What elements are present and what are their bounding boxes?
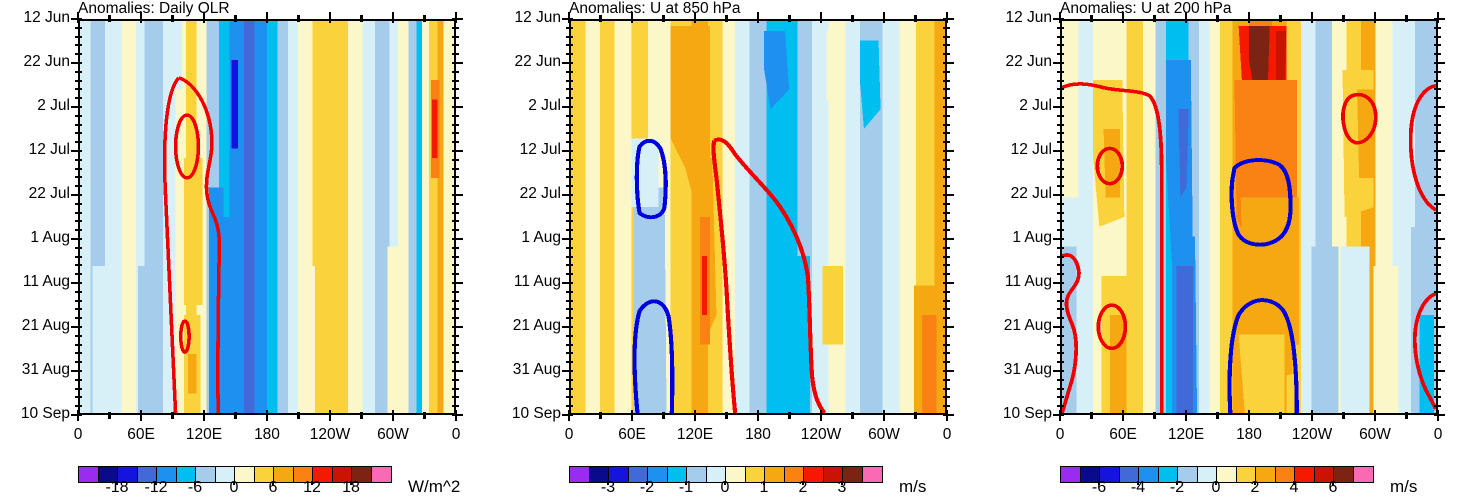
- y-axis-tick-minor-right: [943, 256, 950, 258]
- y-axis-tick-minor: [566, 388, 573, 390]
- y-axis-tick-minor-right: [1434, 132, 1441, 134]
- y-axis-tick-minor: [75, 247, 82, 249]
- y-axis-label: 11 Aug: [4, 275, 70, 289]
- y-axis-tick-minor-right: [943, 53, 950, 55]
- y-axis-label: 1 Aug: [495, 231, 561, 245]
- colorbar-tick-label: 6: [1311, 479, 1355, 497]
- y-axis-tick-minor-right: [452, 344, 459, 346]
- x-axis-label: 180: [237, 427, 297, 443]
- panel-u850: Anomalies: U at 850 hPa: [491, 0, 982, 497]
- y-axis-tick-minor: [1057, 44, 1064, 46]
- colorbar-tick-label: 1: [742, 479, 786, 497]
- y-axis-tick-minor: [566, 396, 573, 398]
- x-axis-label: 120E: [174, 427, 234, 443]
- y-axis-tick-minor: [566, 379, 573, 381]
- y-axis-tick-minor: [75, 203, 82, 205]
- y-axis-tick-minor-right: [452, 352, 459, 354]
- y-axis-tick-minor-right: [943, 361, 950, 363]
- x-axis-tick-minor: [234, 412, 236, 419]
- y-axis-tick-minor-right: [452, 27, 459, 29]
- y-axis-tick-minor-right: [452, 247, 459, 249]
- y-axis-tick-minor-right: [943, 352, 950, 354]
- y-axis-label: 11 Aug: [495, 275, 561, 289]
- y-axis-tick-minor: [566, 159, 573, 161]
- y-axis-tick-minor: [1057, 132, 1064, 134]
- panel-title-u850: Anomalies: U at 850 hPa: [569, 0, 740, 18]
- x-axis-tick-minor-top: [108, 15, 110, 22]
- colorbar-tick-label: -2: [625, 479, 669, 497]
- y-axis-tick-minor-right: [1434, 247, 1441, 249]
- y-axis-tick-major-right: [1434, 238, 1445, 241]
- y-axis-tick-major-right: [943, 194, 954, 197]
- y-axis-tick-minor: [566, 80, 573, 82]
- y-axis-tick-major: [1053, 282, 1064, 285]
- x-axis-tick-minor: [1279, 412, 1281, 419]
- y-axis-tick-minor: [75, 53, 82, 55]
- y-axis-tick-major: [562, 106, 573, 109]
- y-axis-tick-minor-right: [1434, 36, 1441, 38]
- y-axis-tick-minor: [566, 124, 573, 126]
- x-axis-tick-major: [568, 410, 571, 421]
- y-axis-label: 21 Aug: [4, 319, 70, 333]
- y-axis-tick-major-right: [1434, 370, 1445, 373]
- y-axis-tick-minor: [1057, 229, 1064, 231]
- y-axis-tick-minor-right: [943, 388, 950, 390]
- x-axis-tick-major: [140, 410, 143, 421]
- colorbar-tick-label: 0: [1194, 479, 1238, 497]
- y-axis-tick-major: [1053, 150, 1064, 153]
- y-axis-tick-minor-right: [1434, 273, 1441, 275]
- y-axis-tick-major: [71, 238, 82, 241]
- y-axis-label: 12 Jun: [495, 11, 561, 25]
- x-axis-tick-minor: [1405, 412, 1407, 419]
- x-axis-label: 120W: [300, 427, 360, 443]
- y-axis-tick-minor-right: [1434, 80, 1441, 82]
- x-axis-tick-major-top: [883, 12, 886, 23]
- x-axis-label: 60W: [1345, 427, 1405, 443]
- y-axis-tick-major-right: [943, 370, 954, 373]
- y-axis-tick-minor: [75, 388, 82, 390]
- y-axis-tick-major-right: [943, 414, 954, 417]
- y-axis-tick-minor: [75, 352, 82, 354]
- y-axis-tick-minor-right: [452, 220, 459, 222]
- y-axis-tick-minor-right: [452, 97, 459, 99]
- y-axis-tick-minor-right: [1434, 317, 1441, 319]
- y-axis-label: 12 Jul: [986, 143, 1052, 157]
- y-axis-tick-minor: [566, 256, 573, 258]
- y-axis-tick-minor-right: [1434, 352, 1441, 354]
- x-axis-tick-major: [77, 410, 80, 421]
- y-axis-label: 31 Aug: [986, 363, 1052, 377]
- y-axis-tick-minor-right: [943, 159, 950, 161]
- y-axis-tick-major-right: [452, 414, 463, 417]
- x-axis-tick-minor: [1153, 412, 1155, 419]
- x-axis-label: 60W: [363, 427, 423, 443]
- x-axis-tick-major-top: [1059, 12, 1062, 23]
- y-axis-tick-minor-right: [452, 203, 459, 205]
- panel-title-u200: Anomalies: U at 200 hPa: [1060, 0, 1231, 18]
- y-axis-tick-minor: [566, 53, 573, 55]
- y-axis-tick-minor: [1057, 405, 1064, 407]
- y-axis-tick-minor-right: [1434, 27, 1441, 29]
- y-axis-tick-minor: [566, 247, 573, 249]
- y-axis-tick-major-right: [1434, 150, 1445, 153]
- y-axis-tick-minor: [75, 97, 82, 99]
- y-axis-tick-minor-right: [943, 132, 950, 134]
- y-axis-tick-minor: [1057, 273, 1064, 275]
- y-axis-tick-minor-right: [1434, 159, 1441, 161]
- x-axis-tick-minor: [360, 412, 362, 419]
- y-axis-label: 22 Jun: [495, 55, 561, 69]
- x-axis-tick-minor-top: [297, 15, 299, 22]
- y-axis-tick-minor: [75, 141, 82, 143]
- y-axis-tick-minor-right: [1434, 396, 1441, 398]
- colorbar-tick-label: -12: [134, 479, 178, 497]
- y-axis-tick-minor-right: [452, 44, 459, 46]
- x-axis-tick-major-top: [757, 12, 760, 23]
- x-axis-tick-major: [946, 410, 949, 421]
- y-axis-tick-major-right: [452, 18, 463, 21]
- plot-area-u200: [1060, 19, 1438, 415]
- x-axis-tick-minor: [662, 412, 664, 419]
- x-axis-tick-minor: [1090, 412, 1092, 419]
- y-axis-label: 12 Jun: [4, 11, 70, 25]
- y-axis-tick-minor: [75, 44, 82, 46]
- x-axis-tick-major: [203, 410, 206, 421]
- x-axis-tick-major: [757, 410, 760, 421]
- x-axis-tick-major-top: [203, 12, 206, 23]
- y-axis-tick-major: [71, 282, 82, 285]
- y-axis-label: 10 Sep: [986, 407, 1052, 421]
- x-axis-tick-minor-top: [1342, 15, 1344, 22]
- x-axis-tick-minor: [423, 412, 425, 419]
- y-axis-tick-minor-right: [943, 141, 950, 143]
- x-axis-tick-minor: [108, 412, 110, 419]
- x-axis-tick-minor-top: [788, 15, 790, 22]
- y-axis-tick-minor-right: [943, 379, 950, 381]
- y-axis-label: 2 Jul: [986, 99, 1052, 113]
- y-axis-label: 10 Sep: [4, 407, 70, 421]
- y-axis-tick-minor: [75, 220, 82, 222]
- colorbar-tick-label: 0: [212, 479, 256, 497]
- plot-area-u850: [569, 19, 947, 415]
- x-axis-tick-minor-top: [725, 15, 727, 22]
- y-axis-tick-minor-right: [1434, 379, 1441, 381]
- y-axis-tick-minor-right: [1434, 361, 1441, 363]
- y-axis-tick-major-right: [943, 150, 954, 153]
- y-axis-tick-minor: [1057, 344, 1064, 346]
- y-axis-tick-minor-right: [452, 141, 459, 143]
- colorbar-swatch: [1354, 467, 1374, 482]
- y-axis-tick-minor-right: [943, 115, 950, 117]
- x-axis-tick-major-top: [820, 12, 823, 23]
- y-axis-tick-major-right: [452, 238, 463, 241]
- y-axis-tick-minor-right: [1434, 185, 1441, 187]
- colorbar-tick-label: -2: [1155, 479, 1199, 497]
- x-axis-label: 120E: [1156, 427, 1216, 443]
- y-axis-tick-minor: [1057, 159, 1064, 161]
- x-axis-tick-minor-top: [599, 15, 601, 22]
- colorbar-tick-label: -18: [95, 479, 139, 497]
- y-axis-tick-minor: [75, 124, 82, 126]
- y-axis-tick-minor: [566, 185, 573, 187]
- y-axis-tick-minor-right: [943, 300, 950, 302]
- y-axis-tick-minor: [566, 88, 573, 90]
- y-axis-tick-minor-right: [1434, 53, 1441, 55]
- y-axis-tick-minor-right: [943, 317, 950, 319]
- y-axis-tick-minor: [75, 291, 82, 293]
- y-axis-tick-minor: [1057, 396, 1064, 398]
- x-axis-tick-major-top: [631, 12, 634, 23]
- x-axis-tick-major-top: [392, 12, 395, 23]
- x-axis-tick-minor-top: [360, 15, 362, 22]
- y-axis-tick-minor: [75, 212, 82, 214]
- y-axis-tick-minor: [566, 220, 573, 222]
- y-axis-tick-minor: [1057, 256, 1064, 258]
- y-axis-tick-minor-right: [452, 291, 459, 293]
- y-axis-tick-minor: [566, 115, 573, 117]
- x-axis-tick-minor-top: [1279, 15, 1281, 22]
- y-axis-tick-minor-right: [452, 53, 459, 55]
- y-axis-tick-major-right: [943, 106, 954, 109]
- y-axis-tick-minor-right: [1434, 344, 1441, 346]
- plot-area-olr: [78, 19, 456, 415]
- y-axis-label: 11 Aug: [986, 275, 1052, 289]
- colorbar-tick-label: -1: [664, 479, 708, 497]
- x-axis-tick-minor: [171, 412, 173, 419]
- y-axis-tick-minor: [566, 132, 573, 134]
- y-axis-tick-minor-right: [452, 300, 459, 302]
- x-axis-tick-major-top: [140, 12, 143, 23]
- x-axis-tick-minor-top: [1090, 15, 1092, 22]
- colorbar-tick-label: 2: [1233, 479, 1277, 497]
- y-axis-tick-minor-right: [452, 159, 459, 161]
- y-axis-label: 1 Aug: [4, 231, 70, 245]
- y-axis-tick-minor: [1057, 212, 1064, 214]
- y-axis-tick-minor-right: [452, 212, 459, 214]
- x-axis-tick-major: [266, 410, 269, 421]
- y-axis-tick-minor: [75, 185, 82, 187]
- x-axis-tick-major-top: [77, 12, 80, 23]
- y-axis-tick-minor-right: [452, 256, 459, 258]
- y-axis-tick-minor: [75, 335, 82, 337]
- y-axis-tick-minor-right: [943, 168, 950, 170]
- colorbar-unit-label: W/m^2: [408, 477, 460, 497]
- y-axis-tick-major: [71, 62, 82, 65]
- y-axis-tick-minor-right: [943, 396, 950, 398]
- y-axis-tick-minor: [75, 317, 82, 319]
- x-axis-tick-major: [1185, 410, 1188, 421]
- x-axis-label: 0: [48, 427, 108, 443]
- y-axis-tick-major: [1053, 370, 1064, 373]
- x-axis-tick-minor-top: [234, 15, 236, 22]
- x-axis-tick-major-top: [694, 12, 697, 23]
- x-axis-tick-major-top: [1122, 12, 1125, 23]
- y-axis-tick-minor: [566, 36, 573, 38]
- y-axis-tick-minor-right: [452, 361, 459, 363]
- x-axis-tick-minor-top: [851, 15, 853, 22]
- y-axis-tick-minor-right: [1434, 124, 1441, 126]
- y-axis-tick-major-right: [943, 62, 954, 65]
- x-axis-tick-major-top: [1248, 12, 1251, 23]
- y-axis-tick-minor-right: [943, 27, 950, 29]
- x-axis-label: 0: [1030, 427, 1090, 443]
- x-axis-tick-major-top: [1437, 12, 1440, 23]
- y-axis-tick-minor: [566, 176, 573, 178]
- colorbar-tick-label: -6: [173, 479, 217, 497]
- y-axis-tick-major: [71, 150, 82, 153]
- y-axis-tick-minor: [75, 396, 82, 398]
- x-axis-tick-minor-top: [423, 15, 425, 22]
- y-axis-tick-minor: [566, 44, 573, 46]
- y-axis-tick-minor-right: [1434, 308, 1441, 310]
- y-axis-tick-major-right: [1434, 414, 1445, 417]
- y-axis-tick-major-right: [1434, 18, 1445, 21]
- y-axis-tick-minor-right: [943, 80, 950, 82]
- y-axis-tick-minor: [566, 291, 573, 293]
- y-axis-tick-minor: [1057, 141, 1064, 143]
- y-axis-tick-minor: [1057, 388, 1064, 390]
- y-axis-tick-minor: [566, 361, 573, 363]
- y-axis-tick-minor-right: [452, 124, 459, 126]
- colorbar-swatch: [863, 467, 883, 482]
- y-axis-tick-minor-right: [943, 344, 950, 346]
- y-axis-tick-major-right: [452, 282, 463, 285]
- y-axis-label: 22 Jun: [4, 55, 70, 69]
- y-axis-tick-major: [1053, 62, 1064, 65]
- y-axis-tick-minor: [566, 344, 573, 346]
- colorbar-tick-label: -3: [586, 479, 630, 497]
- y-axis-tick-minor: [1057, 264, 1064, 266]
- colorbar-tick-label: -4: [1116, 479, 1160, 497]
- x-axis-tick-major: [1059, 410, 1062, 421]
- y-axis-tick-minor: [566, 97, 573, 99]
- panel-title-olr: Anomalies: Daily OLR: [78, 0, 230, 18]
- x-axis-tick-minor-top: [1216, 15, 1218, 22]
- x-axis-tick-major: [631, 410, 634, 421]
- y-axis-tick-minor: [1057, 308, 1064, 310]
- y-axis-tick-minor-right: [943, 291, 950, 293]
- y-axis-tick-minor-right: [452, 379, 459, 381]
- x-axis-label: 0: [539, 427, 599, 443]
- y-axis-tick-minor: [1057, 88, 1064, 90]
- y-axis-tick-minor-right: [943, 247, 950, 249]
- y-axis-tick-major-right: [943, 282, 954, 285]
- y-axis-tick-minor-right: [452, 115, 459, 117]
- contour-field-u200: [1062, 21, 1436, 413]
- y-axis-tick-minor-right: [452, 264, 459, 266]
- x-axis-tick-minor: [788, 412, 790, 419]
- y-axis-tick-minor: [1057, 53, 1064, 55]
- y-axis-tick-minor-right: [452, 132, 459, 134]
- y-axis-tick-minor-right: [1434, 141, 1441, 143]
- y-axis-tick-minor-right: [452, 168, 459, 170]
- y-axis-tick-minor: [566, 229, 573, 231]
- x-axis-tick-major: [1248, 410, 1251, 421]
- y-axis-label: 31 Aug: [4, 363, 70, 377]
- y-axis-tick-minor-right: [943, 335, 950, 337]
- y-axis-tick-minor-right: [943, 273, 950, 275]
- y-axis-tick-minor-right: [943, 88, 950, 90]
- y-axis-tick-minor-right: [1434, 97, 1441, 99]
- y-axis-tick-major-right: [1434, 106, 1445, 109]
- y-axis-tick-minor-right: [1434, 88, 1441, 90]
- x-axis-label: 60E: [111, 427, 171, 443]
- y-axis-tick-major: [562, 282, 573, 285]
- y-axis-tick-minor: [566, 300, 573, 302]
- colorbar-unit-label: m/s: [1390, 477, 1417, 497]
- x-axis-tick-major: [694, 410, 697, 421]
- x-axis-label: 180: [728, 427, 788, 443]
- y-axis-tick-major-right: [943, 18, 954, 21]
- y-axis-tick-minor: [75, 379, 82, 381]
- y-axis-tick-major: [1053, 106, 1064, 109]
- y-axis-tick-major: [562, 370, 573, 373]
- y-axis-tick-minor-right: [943, 71, 950, 73]
- x-axis-tick-minor: [599, 412, 601, 419]
- y-axis-tick-minor: [1057, 335, 1064, 337]
- y-axis-tick-major: [562, 150, 573, 153]
- y-axis-tick-minor-right: [452, 176, 459, 178]
- y-axis-tick-minor-right: [1434, 220, 1441, 222]
- x-axis-tick-major: [1437, 410, 1440, 421]
- y-axis-tick-minor: [75, 405, 82, 407]
- y-axis-tick-minor: [75, 361, 82, 363]
- y-axis-tick-minor: [566, 352, 573, 354]
- y-axis-tick-minor: [75, 27, 82, 29]
- y-axis-tick-minor: [1057, 291, 1064, 293]
- y-axis-label: 2 Jul: [495, 99, 561, 113]
- y-axis-tick-major-right: [1434, 194, 1445, 197]
- y-axis-tick-minor-right: [943, 229, 950, 231]
- y-axis-tick-minor-right: [452, 273, 459, 275]
- y-axis-tick-minor: [1057, 27, 1064, 29]
- y-axis-tick-minor-right: [1434, 203, 1441, 205]
- colorbar-tick-label: 6: [251, 479, 295, 497]
- y-axis-tick-minor: [75, 308, 82, 310]
- y-axis-tick-minor: [566, 71, 573, 73]
- y-axis-tick-minor-right: [452, 308, 459, 310]
- x-axis-tick-major: [392, 410, 395, 421]
- y-axis-tick-major: [71, 106, 82, 109]
- y-axis-tick-minor-right: [943, 36, 950, 38]
- colorbar-unit-label: m/s: [899, 477, 926, 497]
- y-axis-tick-minor: [75, 273, 82, 275]
- y-axis-tick-minor: [75, 115, 82, 117]
- y-axis-tick-major: [1053, 326, 1064, 329]
- y-axis-tick-minor-right: [452, 396, 459, 398]
- x-axis-tick-minor: [1216, 412, 1218, 419]
- y-axis-tick-major-right: [1434, 326, 1445, 329]
- x-axis-tick-minor: [851, 412, 853, 419]
- y-axis-tick-minor-right: [1434, 44, 1441, 46]
- colorbar-tick-label: -6: [1077, 479, 1121, 497]
- x-axis-tick-major: [883, 410, 886, 421]
- x-axis-label: 0: [426, 427, 486, 443]
- y-axis-tick-minor: [75, 88, 82, 90]
- y-axis-tick-minor: [75, 229, 82, 231]
- contour-field-u850: [571, 21, 945, 413]
- x-axis-tick-major: [329, 410, 332, 421]
- x-axis-tick-major-top: [455, 12, 458, 23]
- y-axis-tick-minor: [566, 317, 573, 319]
- x-axis-tick-major-top: [1374, 12, 1377, 23]
- y-axis-tick-minor-right: [452, 88, 459, 90]
- y-axis-tick-major-right: [452, 194, 463, 197]
- y-axis-tick-major-right: [943, 326, 954, 329]
- x-axis-label: 60E: [602, 427, 662, 443]
- y-axis-tick-minor: [1057, 220, 1064, 222]
